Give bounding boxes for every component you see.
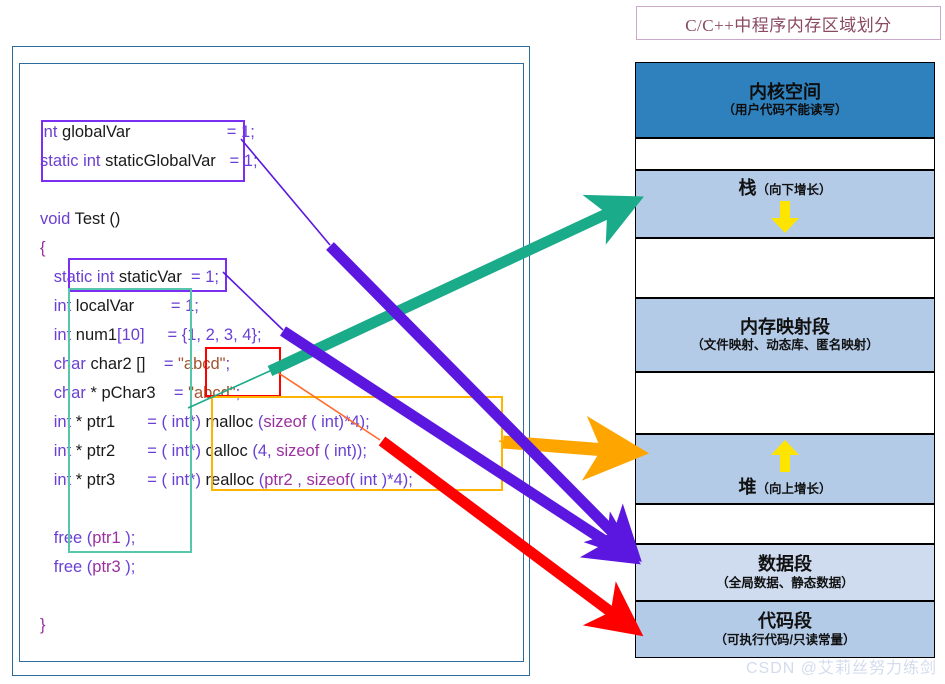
code-token: ; bbox=[236, 384, 241, 402]
code-token: staticGlobalVar bbox=[101, 152, 216, 170]
line-close-brace: } bbox=[40, 611, 510, 640]
code-token: 1, 2, 3, 4 bbox=[187, 326, 251, 344]
code-token: int bbox=[40, 123, 57, 141]
code-token: = bbox=[134, 297, 185, 315]
code-token: ( bbox=[350, 471, 360, 489]
code-token: } bbox=[40, 616, 46, 634]
code-token: = bbox=[216, 152, 244, 170]
code-token: )); bbox=[351, 442, 367, 460]
diagram-title: C/C++中程序内存区域划分 bbox=[636, 6, 941, 40]
line-free1: free (ptr1 ); bbox=[40, 524, 510, 553]
code-token: ptr1 bbox=[92, 529, 120, 547]
code-token: { bbox=[40, 239, 46, 257]
code-token: sizeof bbox=[276, 442, 319, 460]
memory-block-title: 内核空间 bbox=[749, 82, 821, 103]
code-token: char2 [] bbox=[86, 355, 146, 373]
code-token: * ptr2 bbox=[71, 442, 115, 460]
code-token: 1 bbox=[241, 123, 250, 141]
code-token: int bbox=[360, 471, 377, 489]
code-token: free bbox=[40, 529, 82, 547]
code-token: static int bbox=[40, 268, 114, 286]
line-blank-3 bbox=[40, 582, 510, 611]
line-pchar3: char * pChar3 = "abcd"; bbox=[40, 379, 510, 408]
memory-block-subtitle: （全局数据、静态数据） bbox=[716, 576, 854, 591]
memory-block-gap-2 bbox=[635, 238, 935, 298]
memory-block-gap-3 bbox=[635, 372, 935, 434]
code-token: = { bbox=[145, 326, 188, 344]
memory-block-title-text: 堆 bbox=[738, 477, 756, 497]
code-token: int bbox=[334, 442, 351, 460]
code-token: 1 bbox=[244, 152, 253, 170]
code-token: ; bbox=[226, 355, 231, 373]
code-token: ; bbox=[250, 123, 255, 141]
memory-layout-column: 内核空间（用户代码不能读写）栈（向下增长）内存映射段（文件映射、动态库、匿名映射… bbox=[635, 62, 935, 658]
code-token: 4 bbox=[394, 471, 403, 489]
code-token: int bbox=[167, 442, 189, 460]
line-num1: int num1[10] = {1, 2, 3, 4}; bbox=[40, 321, 510, 350]
line-ptr3: int * ptr3 = ( int*) realloc (ptr2 , siz… bbox=[40, 466, 510, 495]
diagram-title-text: C/C++中程序内存区域划分 bbox=[685, 11, 892, 36]
code-token: * ptr1 bbox=[71, 413, 115, 431]
memory-block-subtitle: （向下增长） bbox=[756, 183, 831, 197]
code-token: "abcd" bbox=[178, 355, 226, 373]
code-token: ( bbox=[248, 442, 258, 460]
line-ptr2: int * ptr2 = ( int*) calloc (4, sizeof (… bbox=[40, 437, 510, 466]
code-token: int bbox=[167, 413, 189, 431]
code-token: static int bbox=[40, 152, 101, 170]
code-token: ; bbox=[253, 152, 258, 170]
memory-block-gap-4 bbox=[635, 504, 935, 544]
line-globalvar: int globalVar = 1; bbox=[40, 118, 510, 147]
code-token: = bbox=[131, 123, 242, 141]
code-token: int bbox=[40, 326, 71, 344]
code-token: = ( bbox=[115, 442, 167, 460]
yellow-up-arrow-icon bbox=[768, 439, 802, 473]
memory-block-heap: 堆（向上增长） bbox=[635, 434, 935, 504]
code-token: [10] bbox=[117, 326, 145, 344]
code-token: localVar bbox=[71, 297, 134, 315]
code-token: ); bbox=[360, 413, 370, 431]
memory-block-title: 内存映射段 bbox=[740, 317, 830, 338]
code-token: calloc bbox=[206, 442, 248, 460]
code-token: ( bbox=[319, 442, 334, 460]
line-ptr1: int * ptr1 = ( int*) malloc (sizeof ( in… bbox=[40, 408, 510, 437]
code-token: globalVar bbox=[57, 123, 130, 141]
code-token: ; bbox=[194, 297, 199, 315]
code-token: = bbox=[182, 268, 205, 286]
code-token: Test () bbox=[70, 210, 120, 228]
code-token: ( bbox=[253, 413, 263, 431]
line-char2: char char2 [] = "abcd"; bbox=[40, 350, 510, 379]
code-token: ); bbox=[121, 529, 136, 547]
code-token: 4 bbox=[350, 413, 359, 431]
code-token: ptr2 bbox=[264, 471, 292, 489]
memory-block-title: 代码段 bbox=[758, 611, 812, 632]
code-token: 4 bbox=[258, 442, 267, 460]
code-token: int bbox=[40, 413, 71, 431]
memory-block-subtitle: （向上增长） bbox=[756, 482, 831, 496]
memory-block-subtitle: （文件映射、动态库、匿名映射） bbox=[691, 338, 879, 353]
code-token: *) bbox=[189, 471, 206, 489]
csdn-watermark: CSDN @艾莉丝努力练剑 bbox=[746, 654, 937, 678]
memory-block-title: 数据段 bbox=[758, 554, 812, 575]
memory-block-kernel-space: 内核空间（用户代码不能读写） bbox=[635, 62, 935, 138]
code-token: ( bbox=[82, 558, 92, 576]
code-token: ); bbox=[121, 558, 136, 576]
code-token: sizeof bbox=[306, 471, 349, 489]
code-token: char bbox=[40, 355, 86, 373]
code-token: malloc bbox=[206, 413, 254, 431]
code-token: ( bbox=[254, 471, 264, 489]
code-token: int bbox=[40, 297, 71, 315]
code-token: )* bbox=[339, 413, 351, 431]
code-listing: int globalVar = 1;static int staticGloba… bbox=[40, 118, 510, 640]
line-staticvar: static int staticVar = 1; bbox=[40, 263, 510, 292]
code-token: ptr3 bbox=[92, 558, 120, 576]
memory-block-title-text: 栈 bbox=[738, 178, 756, 198]
code-token: * ptr3 bbox=[71, 471, 115, 489]
code-token: void bbox=[40, 210, 70, 228]
code-token: = bbox=[145, 355, 178, 373]
code-token: ); bbox=[403, 471, 413, 489]
code-token: *) bbox=[189, 442, 206, 460]
code-token: ( bbox=[306, 413, 321, 431]
code-token: int bbox=[40, 471, 71, 489]
code-token: , bbox=[293, 471, 307, 489]
memory-block-data-segment: 数据段（全局数据、静态数据） bbox=[635, 544, 935, 601]
line-localvar: int localVar = 1; bbox=[40, 292, 510, 321]
code-token: int bbox=[321, 413, 338, 431]
line-blank-2 bbox=[40, 495, 510, 524]
memory-block-code-segment: 代码段（可执行代码/只读常量） bbox=[635, 601, 935, 658]
memory-block-gap-1 bbox=[635, 138, 935, 170]
code-token: 1 bbox=[185, 297, 194, 315]
code-token: = bbox=[156, 384, 189, 402]
memory-block-memory-mapping: 内存映射段（文件映射、动态库、匿名映射） bbox=[635, 298, 935, 372]
code-token: = ( bbox=[115, 471, 167, 489]
line-void-test: void Test () bbox=[40, 205, 510, 234]
code-token: )* bbox=[377, 471, 394, 489]
code-token: char bbox=[40, 384, 86, 402]
code-token: ( bbox=[82, 529, 92, 547]
code-token: = ( bbox=[115, 413, 167, 431]
memory-block-subtitle: （可执行代码/只读常量） bbox=[715, 633, 856, 648]
line-blank-1 bbox=[40, 176, 510, 205]
code-token: realloc bbox=[206, 471, 255, 489]
code-token: staticVar bbox=[114, 268, 182, 286]
code-token: sizeof bbox=[263, 413, 306, 431]
code-token: , bbox=[267, 442, 276, 460]
code-token: num1 bbox=[71, 326, 117, 344]
memory-block-title: 栈（向下增长） bbox=[738, 174, 831, 200]
code-token: }; bbox=[251, 326, 261, 344]
code-token: int bbox=[167, 471, 189, 489]
line-open-brace: { bbox=[40, 234, 510, 263]
memory-block-title: 堆（向上增长） bbox=[738, 473, 831, 499]
memory-block-subtitle: （用户代码不能读写） bbox=[722, 103, 847, 118]
memory-block-stack: 栈（向下增长） bbox=[635, 170, 935, 238]
code-token: * pChar3 bbox=[86, 384, 156, 402]
code-token: free bbox=[40, 558, 82, 576]
line-free3: free (ptr3 ); bbox=[40, 553, 510, 582]
yellow-down-arrow-icon bbox=[768, 200, 802, 234]
code-token: *) bbox=[189, 413, 206, 431]
line-staticglobal: static int staticGlobalVar = 1; bbox=[40, 147, 510, 176]
code-token: ; bbox=[214, 268, 219, 286]
code-token: int bbox=[40, 442, 71, 460]
code-token: "abcd" bbox=[188, 384, 236, 402]
